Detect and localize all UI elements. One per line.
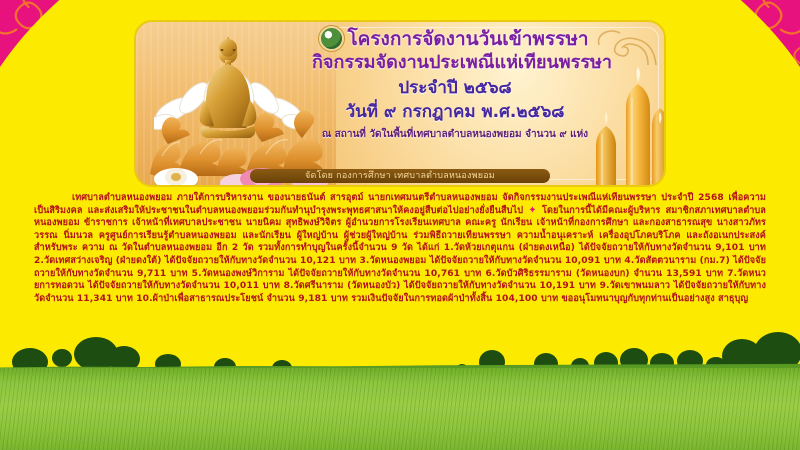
banner-year: ประจำปี ๒๕๖๘ [312, 77, 598, 99]
banner-text-block: โครงการจัดงานวันเข้าพรรษา กิจกรรมจัดงานป… [312, 28, 598, 142]
bullet-icon: ✦ [528, 205, 536, 216]
banner-title-line1-text: โครงการจัดงานวันเข้าพรรษา [347, 28, 588, 50]
total-label: รวมเงินปัจจัยในการทอดผ้าป่าทั้งสิ้น [351, 294, 492, 304]
landscape-photo [0, 325, 800, 450]
banner-date: วันที่ ๙ กรกฎาคม พ.ศ.๒๕๖๘ [312, 101, 598, 123]
total-amount: 104,100 [496, 294, 538, 304]
temples-intro: ได้แก่ [417, 243, 439, 253]
banner-title-line1: โครงการจัดงานวันเข้าพรรษา [312, 28, 598, 51]
banner-title-line2: กิจกรรมจัดงานประเพณีแห่เทียนพรรษา [312, 52, 598, 75]
buddha-artwork [136, 22, 336, 185]
total-unit: บาท [541, 294, 558, 304]
event-banner: โครงการจัดงานวันเข้าพรรษา กิจกรรมจัดงานป… [136, 22, 664, 185]
closing-text: ขออนุโมทนาบุญกับทุกท่านเป็นอย่างสูง สาธุ… [561, 294, 748, 304]
grass-field [0, 368, 800, 450]
municipality-emblem-icon [321, 28, 342, 49]
poster-canvas: โครงการจัดงานวันเข้าพรรษา กิจกรรมจัดงานป… [0, 0, 800, 450]
article-body: เทศบาลตำบลหนองพยอม ภายใต้การบริหารงาน ขอ… [34, 192, 766, 305]
banner-venue: ณ สถานที่ วัดในพื้นที่เทศบาลตำบลหนองพยอม… [312, 127, 598, 142]
banner-credit: จัดโดย กองการศึกษา เทศบาลตำบลหนองพยอม [250, 169, 550, 183]
